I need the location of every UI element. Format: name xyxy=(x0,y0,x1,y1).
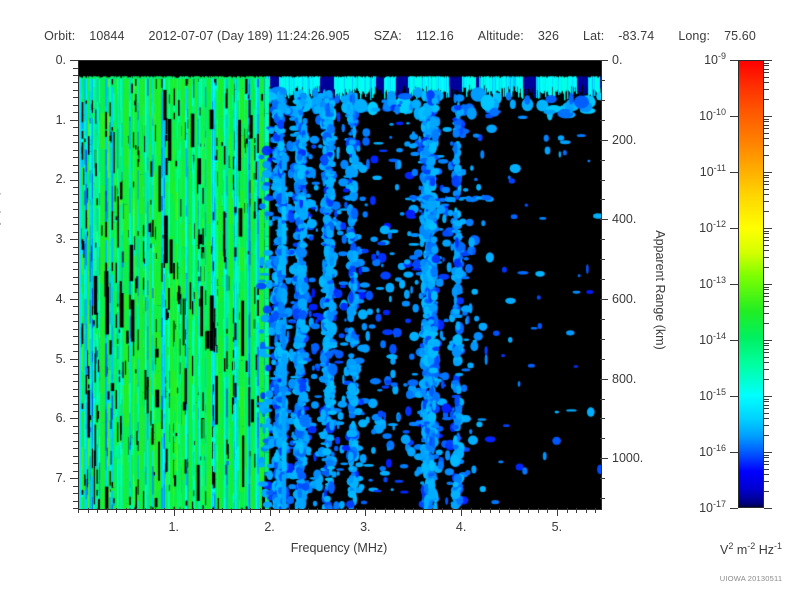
colorbar-tick-minor xyxy=(764,72,769,73)
colorbar-tick-mantissa: 10 xyxy=(699,221,713,235)
colorbar-tick-minor xyxy=(764,461,769,462)
y-tick-left-minor xyxy=(73,165,78,166)
y-tick-left-minor xyxy=(73,187,78,188)
x-tick-minor xyxy=(567,508,568,513)
colorbar-tick-major-left xyxy=(730,452,738,453)
y-tick-left-minor xyxy=(73,329,78,330)
colorbar-tick-minor xyxy=(764,455,769,456)
colorbar-tick-exponent: -12 xyxy=(713,219,726,229)
colorbar-tick-minor xyxy=(764,175,769,176)
y-tick-left-minor xyxy=(73,202,78,203)
x-tick-minor xyxy=(499,508,500,513)
y-tick-right-label: 400. xyxy=(612,212,636,226)
colorbar-tick-minor xyxy=(764,250,769,251)
y-tick-left-minor xyxy=(73,269,78,270)
y-tick-left-minor xyxy=(73,411,78,412)
y-tick-left-minor xyxy=(70,359,78,360)
colorbar-tick-minor xyxy=(764,349,769,350)
colorbar-tick-minor xyxy=(764,121,769,122)
cb-unit-exp-hz: -1 xyxy=(774,541,782,551)
colorbar-tick-major xyxy=(764,340,772,341)
colorbar-tick-minor xyxy=(764,306,769,307)
y-tick-right-minor xyxy=(600,399,605,400)
header-long-label: Long: xyxy=(678,29,710,43)
x-tick-minor xyxy=(365,508,366,516)
colorbar-tick-minor xyxy=(764,313,769,314)
x-tick-minor xyxy=(509,508,510,513)
colorbar-tick-minor xyxy=(764,464,769,465)
y-tick-left-minor xyxy=(70,60,78,61)
colorbar-gradient xyxy=(738,60,764,508)
x-tick-minor xyxy=(423,508,424,513)
y-tick-left-minor xyxy=(73,157,78,158)
y-tick-left-minor xyxy=(73,112,78,113)
y-tick-left-minor xyxy=(73,448,78,449)
x-tick-minor xyxy=(394,508,395,513)
y-tick-left-minor xyxy=(73,105,78,106)
y-tick-left-minor xyxy=(73,68,78,69)
colorbar-tick-major xyxy=(764,508,772,509)
colorbar-tick-exponent: -10 xyxy=(713,107,726,117)
y-tick-left-minor xyxy=(73,306,78,307)
figure-credit: UIOWA 20130511 xyxy=(720,574,782,583)
y-tick-right-label: 600. xyxy=(612,292,636,306)
y-tick-left-label: 0. xyxy=(56,53,66,67)
colorbar-tick-minor xyxy=(764,323,769,324)
colorbar-tick-label: 10-12 xyxy=(699,221,726,235)
colorbar-tick-minor xyxy=(764,435,769,436)
y-tick-right-minor xyxy=(600,219,608,220)
y-tick-left-minor xyxy=(73,321,78,322)
colorbar-tick-minor xyxy=(764,184,769,185)
y-tick-left-label: 5. xyxy=(56,352,66,366)
x-tick-minor xyxy=(107,508,108,513)
colorbar-tick-exponent: -9 xyxy=(718,51,726,61)
colorbar-tick-major xyxy=(764,228,772,229)
colorbar-tick-minor xyxy=(764,189,769,190)
x-tick-minor xyxy=(337,508,338,513)
x-tick-minor xyxy=(461,508,462,516)
y-tick-left-label: 6. xyxy=(56,411,66,425)
y-tick-right-minor xyxy=(600,379,608,380)
colorbar-tick-major xyxy=(764,172,772,173)
colorbar-tick-minor xyxy=(764,201,769,202)
x-tick-minor xyxy=(116,508,117,513)
colorbar-tick-minor xyxy=(764,177,769,178)
colorbar-tick-exponent: -16 xyxy=(713,443,726,453)
x-tick-minor xyxy=(595,508,596,513)
colorbar-tick-minor xyxy=(764,413,769,414)
y-tick-left-minor xyxy=(73,277,78,278)
y-tick-right-label: 200. xyxy=(612,133,636,147)
x-tick-minor xyxy=(136,508,137,513)
x-tick-minor xyxy=(432,508,433,513)
x-tick-minor xyxy=(145,508,146,513)
y-tick-left-minor xyxy=(73,135,78,136)
colorbar-tick-minor xyxy=(764,469,769,470)
y-tick-left-minor xyxy=(70,418,78,419)
y-tick-left-minor xyxy=(73,90,78,91)
x-tick-minor xyxy=(260,508,261,513)
y-tick-right-minor xyxy=(600,239,605,240)
colorbar-tick-minor xyxy=(764,301,769,302)
y-tick-left-minor xyxy=(73,381,78,382)
colorbar-tick-minor xyxy=(764,155,769,156)
y-tick-left-minor xyxy=(73,75,78,76)
y-tick-left-minor xyxy=(73,366,78,367)
header-orbit-label: Orbit: xyxy=(44,29,75,43)
colorbar-tick-mantissa: 10 xyxy=(704,53,718,67)
y-tick-left-minor xyxy=(73,374,78,375)
y-tick-left-minor xyxy=(73,224,78,225)
colorbar-tick-minor xyxy=(764,63,769,64)
y-tick-right-minor xyxy=(600,299,608,300)
y-tick-left-minor xyxy=(73,247,78,248)
x-tick-minor xyxy=(308,508,309,513)
x-tick-minor xyxy=(155,508,156,513)
x-tick-minor xyxy=(490,508,491,513)
header-orbit-value: 10844 xyxy=(89,29,124,43)
colorbar-tick-minor xyxy=(764,77,769,78)
y-tick-left-minor xyxy=(73,441,78,442)
colorbar-tick-minor xyxy=(764,194,769,195)
colorbar-tick-minor xyxy=(764,405,769,406)
x-tick-minor xyxy=(442,508,443,513)
colorbar-tick-major-left xyxy=(730,116,738,117)
colorbar-tick-mantissa: 10 xyxy=(699,501,713,515)
x-tick-minor xyxy=(183,508,184,513)
y-tick-left-minor xyxy=(73,404,78,405)
colorbar-tick-minor xyxy=(764,257,769,258)
x-tick-minor xyxy=(346,508,347,513)
x-tick-label: 2. xyxy=(264,520,274,534)
colorbar-tick-mantissa: 10 xyxy=(699,389,713,403)
colorbar-tick-minor xyxy=(764,481,769,482)
colorbar-tick-label: 10-16 xyxy=(699,445,726,459)
x-tick-minor xyxy=(356,508,357,513)
colorbar-tick-minor xyxy=(764,362,769,363)
colorbar-tick-major-left xyxy=(730,284,738,285)
y-tick-left-minor xyxy=(73,426,78,427)
y-tick-left-minor xyxy=(73,501,78,502)
colorbar-tick-minor xyxy=(764,145,769,146)
x-tick-label: 5. xyxy=(552,520,562,534)
y-tick-left-minor xyxy=(73,172,78,173)
y-tick-left-minor xyxy=(73,351,78,352)
colorbar xyxy=(738,60,764,508)
y-tick-right-minor xyxy=(600,120,605,121)
colorbar-tick-minor xyxy=(764,65,769,66)
x-tick-minor xyxy=(97,508,98,513)
colorbar-tick-minor xyxy=(764,133,769,134)
colorbar-tick-label: 10-10 xyxy=(699,109,726,123)
x-tick-minor xyxy=(471,508,472,513)
y-tick-left-minor xyxy=(73,486,78,487)
y-tick-left-minor xyxy=(70,120,78,121)
x-tick-label: 4. xyxy=(456,520,466,534)
y-tick-right-minor xyxy=(600,199,605,200)
colorbar-tick-minor xyxy=(764,128,769,129)
colorbar-tick-label: 10-9 xyxy=(704,53,726,67)
ionogram-figure: Orbit:108442012-07-07 (Day 189) 11:24:26… xyxy=(0,0,800,600)
y-tick-right-minor xyxy=(600,140,608,141)
colorbar-tick-minor xyxy=(764,89,769,90)
x-tick-minor xyxy=(289,508,290,513)
colorbar-tick-minor xyxy=(764,418,769,419)
colorbar-tick-exponent: -17 xyxy=(713,499,726,509)
header-altitude-value: 326 xyxy=(538,29,559,43)
y-tick-left-label: 3. xyxy=(56,232,66,246)
y-tick-left-minor xyxy=(70,239,78,240)
x-tick-minor xyxy=(270,508,271,516)
y-tick-left-minor xyxy=(73,82,78,83)
x-tick-minor xyxy=(538,508,539,513)
colorbar-tick-minor xyxy=(764,293,769,294)
x-axis-title: Frequency (MHz) xyxy=(291,541,388,555)
header-lat-label: Lat: xyxy=(583,29,604,43)
y-tick-left-minor xyxy=(73,217,78,218)
x-tick-minor xyxy=(519,508,520,513)
x-tick-minor xyxy=(88,508,89,513)
y-tick-right-minor xyxy=(600,279,605,280)
colorbar-tick-minor xyxy=(764,240,769,241)
colorbar-tick-exponent: -13 xyxy=(713,275,726,285)
x-tick-minor xyxy=(250,508,251,513)
y-tick-left-minor xyxy=(73,463,78,464)
colorbar-tick-minor xyxy=(764,474,769,475)
y-tick-right-minor xyxy=(600,359,605,360)
y-tick-left-minor xyxy=(73,344,78,345)
y-tick-left-minor xyxy=(70,299,78,300)
colorbar-tick-minor xyxy=(764,457,769,458)
colorbar-tick-label: 10-17 xyxy=(699,501,726,515)
x-tick-minor xyxy=(78,508,79,513)
y-tick-left-minor xyxy=(70,180,78,181)
colorbar-tick-major-left xyxy=(730,172,738,173)
colorbar-tick-minor xyxy=(764,352,769,353)
y-tick-left-minor xyxy=(73,97,78,98)
colorbar-tick-minor xyxy=(764,369,769,370)
y-tick-right-minor xyxy=(600,80,605,81)
colorbar-tick-major xyxy=(764,452,772,453)
colorbar-tick-mantissa: 10 xyxy=(699,333,713,347)
y-axis-right-title: Apparent Range (km) xyxy=(653,230,667,350)
y-tick-right-minor xyxy=(600,259,605,260)
colorbar-tick-mantissa: 10 xyxy=(700,165,714,179)
figure-header: Orbit:108442012-07-07 (Day 189) 11:24:26… xyxy=(0,29,800,43)
x-tick-minor xyxy=(480,508,481,513)
cb-unit-m: m xyxy=(733,543,747,557)
colorbar-tick-minor xyxy=(764,231,769,232)
header-sza-label: SZA: xyxy=(374,29,402,43)
colorbar-tick-minor xyxy=(764,357,769,358)
y-tick-left-minor xyxy=(73,142,78,143)
y-tick-right-label: 0. xyxy=(612,53,622,67)
y-tick-left-minor xyxy=(73,389,78,390)
x-tick-minor xyxy=(413,508,414,513)
colorbar-tick-minor xyxy=(764,401,769,402)
y-tick-left-label: 2. xyxy=(56,172,66,186)
x-tick-minor xyxy=(174,508,175,516)
colorbar-tick-major-left xyxy=(730,340,738,341)
colorbar-tick-minor xyxy=(764,99,769,100)
y-tick-left-minor xyxy=(73,232,78,233)
y-tick-left-label: 1. xyxy=(56,113,66,127)
x-tick-minor xyxy=(375,508,376,513)
header-datetime: 2012-07-07 (Day 189) 11:24:26.905 xyxy=(149,29,350,43)
y-tick-right-minor xyxy=(600,160,605,161)
y-tick-right-minor xyxy=(600,180,605,181)
colorbar-tick-minor xyxy=(764,125,769,126)
header-long-value: 75.60 xyxy=(724,29,756,43)
colorbar-tick-major xyxy=(764,60,772,61)
y-tick-left-minor xyxy=(73,456,78,457)
header-sza-value: 112.16 xyxy=(416,29,454,43)
y-tick-right-label: 800. xyxy=(612,372,636,386)
header-altitude-label: Altitude: xyxy=(478,29,524,43)
x-tick-minor xyxy=(317,508,318,513)
colorbar-tick-minor xyxy=(764,119,769,120)
colorbar-tick-mantissa: 10 xyxy=(699,109,713,123)
x-tick-minor xyxy=(298,508,299,513)
colorbar-tick-minor xyxy=(764,379,769,380)
y-axis-left-title: Time Delay (ms) xyxy=(0,190,1,281)
x-tick-label: 1. xyxy=(169,520,179,534)
y-tick-left-minor xyxy=(73,284,78,285)
y-tick-left-label: 7. xyxy=(56,471,66,485)
x-tick-minor xyxy=(193,508,194,513)
colorbar-tick-major xyxy=(764,396,772,397)
x-tick-minor xyxy=(241,508,242,513)
colorbar-tick-minor xyxy=(764,408,769,409)
y-tick-left-minor xyxy=(73,254,78,255)
x-tick-minor xyxy=(279,508,280,513)
y-tick-left-minor xyxy=(73,292,78,293)
y-tick-right-minor xyxy=(600,60,608,61)
colorbar-tick-major xyxy=(764,284,772,285)
x-tick-minor xyxy=(203,508,204,513)
y-tick-left-minor xyxy=(73,314,78,315)
y-tick-left-minor xyxy=(73,433,78,434)
x-tick-minor xyxy=(547,508,548,513)
y-tick-left-minor xyxy=(73,194,78,195)
header-lat-value: -83.74 xyxy=(618,29,654,43)
x-tick-minor xyxy=(586,508,587,513)
colorbar-tick-label: 10-15 xyxy=(699,389,726,403)
colorbar-tick-minor xyxy=(764,82,769,83)
y-tick-left-minor xyxy=(70,478,78,479)
y-tick-right-minor xyxy=(600,498,605,499)
y-tick-left-minor xyxy=(73,150,78,151)
x-tick-label: 3. xyxy=(360,520,370,534)
y-tick-left-minor xyxy=(73,209,78,210)
ionogram-plot-area xyxy=(78,60,602,510)
colorbar-tick-mantissa: 10 xyxy=(699,277,713,291)
colorbar-tick-major-left xyxy=(730,396,738,397)
colorbar-tick-minor xyxy=(764,491,769,492)
y-tick-right-minor xyxy=(600,100,605,101)
colorbar-tick-exponent: -15 xyxy=(713,387,726,397)
x-tick-minor xyxy=(385,508,386,513)
y-tick-left-minor xyxy=(73,336,78,337)
colorbar-tick-minor xyxy=(764,181,769,182)
cb-unit-hz: Hz xyxy=(755,543,774,557)
colorbar-tick-minor xyxy=(764,267,769,268)
colorbar-tick-major xyxy=(764,116,772,117)
y-tick-right-label: 1000. xyxy=(612,451,643,465)
x-tick-minor xyxy=(452,508,453,513)
colorbar-tick-minor xyxy=(764,211,769,212)
y-tick-right-minor xyxy=(600,339,605,340)
colorbar-tick-minor xyxy=(764,343,769,344)
x-tick-minor xyxy=(576,508,577,513)
y-tick-left-minor xyxy=(73,493,78,494)
ionogram-heatmap-canvas xyxy=(79,61,601,509)
x-tick-minor xyxy=(528,508,529,513)
colorbar-tick-minor xyxy=(764,289,769,290)
colorbar-tick-exponent: -11 xyxy=(714,163,726,173)
colorbar-tick-minor xyxy=(764,245,769,246)
colorbar-tick-major-left xyxy=(730,60,738,61)
colorbar-tick-minor xyxy=(764,138,769,139)
colorbar-tick-label: 10-11 xyxy=(700,165,726,179)
y-tick-left-label: 4. xyxy=(56,292,66,306)
colorbar-tick-minor xyxy=(764,287,769,288)
x-tick-minor xyxy=(212,508,213,513)
y-tick-right-minor xyxy=(600,418,605,419)
y-tick-left-minor xyxy=(73,127,78,128)
x-tick-minor xyxy=(327,508,328,513)
x-tick-minor xyxy=(222,508,223,513)
y-tick-left-minor xyxy=(73,471,78,472)
colorbar-tick-minor xyxy=(764,399,769,400)
colorbar-tick-minor xyxy=(764,425,769,426)
y-tick-right-minor xyxy=(600,319,605,320)
y-tick-right-minor xyxy=(600,478,605,479)
x-tick-minor xyxy=(231,508,232,513)
y-tick-left-minor xyxy=(73,262,78,263)
colorbar-tick-minor xyxy=(764,237,769,238)
x-tick-minor xyxy=(164,508,165,513)
x-tick-minor xyxy=(557,508,558,516)
colorbar-tick-mantissa: 10 xyxy=(699,445,713,459)
colorbar-tick-label: 10-14 xyxy=(699,333,726,347)
colorbar-tick-major-left xyxy=(730,508,738,509)
colorbar-tick-minor xyxy=(764,296,769,297)
colorbar-tick-exponent: -14 xyxy=(713,331,726,341)
colorbar-tick-minor xyxy=(764,69,769,70)
colorbar-unit-label: V2 m-2 Hz-1 xyxy=(720,543,782,557)
x-tick-minor xyxy=(126,508,127,513)
colorbar-tick-label: 10-13 xyxy=(699,277,726,291)
colorbar-tick-major-left xyxy=(730,228,738,229)
y-tick-right-minor xyxy=(600,438,605,439)
colorbar-tick-minor xyxy=(764,345,769,346)
y-tick-right-minor xyxy=(600,458,608,459)
x-tick-minor xyxy=(404,508,405,513)
y-tick-left-minor xyxy=(73,396,78,397)
colorbar-tick-minor xyxy=(764,233,769,234)
